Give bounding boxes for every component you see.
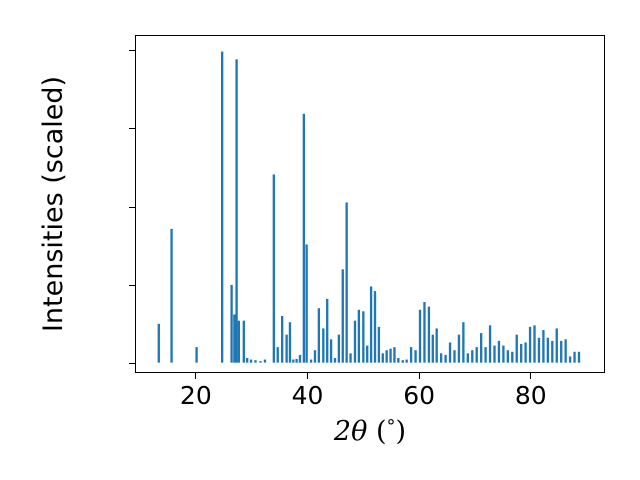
xrd-peak-bar	[489, 325, 491, 362]
xrd-figure: Intensities (scaled) 0255075100 20406080…	[0, 0, 640, 480]
xrd-peak-bar	[334, 358, 336, 363]
xrd-peak-bar	[564, 339, 566, 362]
xrd-peak-bar	[246, 358, 248, 363]
xrd-peak-bar	[542, 330, 544, 363]
xrd-peak-bar	[250, 360, 252, 363]
xrd-peak-bar	[374, 291, 376, 363]
xrd-peak-bar	[362, 311, 364, 362]
xrd-peak-bar	[233, 314, 235, 362]
xrd-peak-bar	[295, 359, 297, 363]
xrd-peak-bar	[305, 244, 307, 362]
xrd-peak-bar	[444, 355, 446, 363]
xrd-peak-bar	[476, 347, 478, 363]
xrd-peak-bar	[511, 352, 513, 363]
xrd-peak-bar	[349, 353, 351, 362]
xrd-peak-bar	[471, 350, 473, 362]
xrd-peak-bar	[358, 310, 360, 363]
x-tick-mark	[419, 373, 420, 379]
xrd-peak-bar	[569, 356, 571, 362]
xrd-peak-bar	[243, 321, 245, 363]
xrd-peak-bar	[338, 335, 340, 363]
xrd-peak-bar	[533, 325, 535, 362]
xrd-peak-bar	[303, 114, 305, 363]
x-axis-label-close-paren: )	[396, 416, 407, 447]
xrd-peak-bar	[480, 333, 482, 363]
xrd-peak-bar	[273, 174, 275, 362]
xrd-peak-bar	[484, 347, 486, 363]
xrd-peak-bar	[393, 347, 395, 363]
xrd-peak-bar	[195, 347, 197, 363]
xrd-peak-bar	[551, 341, 553, 363]
x-tick-label: 20	[180, 383, 212, 408]
xrd-peak-bar	[254, 360, 256, 362]
xrd-peak-bar	[573, 352, 575, 363]
xrd-peak-bar	[453, 350, 455, 362]
xrd-peak-bar	[318, 308, 320, 362]
xrd-peak-bar	[524, 342, 526, 362]
x-tick-mark	[195, 373, 196, 379]
xrd-peak-bar	[507, 350, 509, 362]
xrd-peak-bar	[502, 346, 504, 363]
xrd-peak-bar	[419, 310, 421, 363]
x-axis-label: 2θ (°)	[135, 416, 605, 447]
xrd-peak-bar	[277, 347, 279, 363]
x-axis-label-open-paren: (	[376, 416, 387, 447]
y-axis-label: Intensities (scaled)	[34, 35, 74, 373]
xrd-peak-bar	[529, 327, 531, 363]
xrd-peak-bar	[281, 316, 283, 363]
degree-icon: °	[387, 416, 396, 437]
xrd-peak-bar	[322, 328, 324, 362]
xrd-peak-bar	[547, 338, 549, 363]
xrd-peak-bar	[378, 327, 380, 363]
plot-area	[135, 35, 605, 373]
xrd-peak-bar	[389, 349, 391, 363]
xrd-peak-bar	[493, 346, 495, 363]
xrd-peak-bar	[440, 353, 442, 362]
xrd-peak-bar	[556, 328, 558, 362]
x-tick-label: 60	[403, 383, 435, 408]
xrd-peak-bar	[449, 342, 451, 362]
xrd-peak-bar	[432, 335, 434, 363]
x-tick-mark	[530, 373, 531, 379]
xrd-peak-bar	[314, 350, 316, 362]
xrd-peak-bar	[436, 328, 438, 362]
xrd-peak-bar	[170, 229, 172, 363]
xrd-peak-bar	[423, 302, 425, 363]
xrd-peak-bar	[238, 321, 240, 363]
xrd-peak-bar	[289, 322, 291, 362]
xrd-peak-bar	[326, 299, 328, 363]
xrd-peak-bar	[342, 269, 344, 362]
x-tick-mark	[307, 373, 308, 379]
xrd-peak-bar	[402, 360, 404, 362]
x-tick-label: 80	[515, 383, 547, 408]
xrd-peak-bar	[458, 335, 460, 363]
xrd-peak-bar	[467, 353, 469, 362]
xrd-peak-bar	[299, 355, 301, 363]
xrd-peak-bar	[462, 322, 464, 362]
xrd-peak-bar	[354, 321, 356, 363]
xrd-peak-bar	[578, 352, 580, 363]
xrd-peak-bar	[235, 59, 237, 362]
xrd-peak-bar	[410, 347, 412, 363]
xrd-peak-bar	[520, 344, 522, 363]
xrd-peak-bar	[345, 202, 347, 362]
xrd-peak-bar	[428, 307, 430, 363]
xrd-peak-bar	[414, 350, 416, 362]
x-axis-label-theta: θ	[351, 416, 367, 447]
xrd-peak-bar	[310, 360, 312, 363]
xrd-peak-bar	[292, 360, 294, 363]
xrd-peak-bar	[538, 338, 540, 363]
xrd-peak-bar	[560, 341, 562, 363]
xrd-peak-bar	[406, 360, 408, 363]
xrd-peak-bar	[382, 353, 384, 362]
xrd-peak-bar	[386, 350, 388, 362]
xrd-peak-bar	[366, 346, 368, 363]
xrd-peak-bar	[498, 341, 500, 363]
xrd-peak-bar	[264, 360, 266, 363]
xrd-peak-bar	[370, 286, 372, 362]
xrd-peak-bar	[259, 361, 261, 363]
xrd-peak-bar	[158, 324, 160, 363]
xrd-peak-bar	[230, 285, 232, 363]
xrd-peak-bar	[221, 52, 223, 363]
xrd-peak-bar	[397, 358, 399, 363]
xrd-bars	[136, 36, 604, 372]
xrd-peak-bar	[516, 335, 518, 363]
x-axis-label-prefix: 2	[334, 416, 351, 447]
xrd-peak-bar	[285, 335, 287, 363]
xrd-peak-bar	[330, 339, 332, 362]
x-tick-label: 40	[292, 383, 324, 408]
